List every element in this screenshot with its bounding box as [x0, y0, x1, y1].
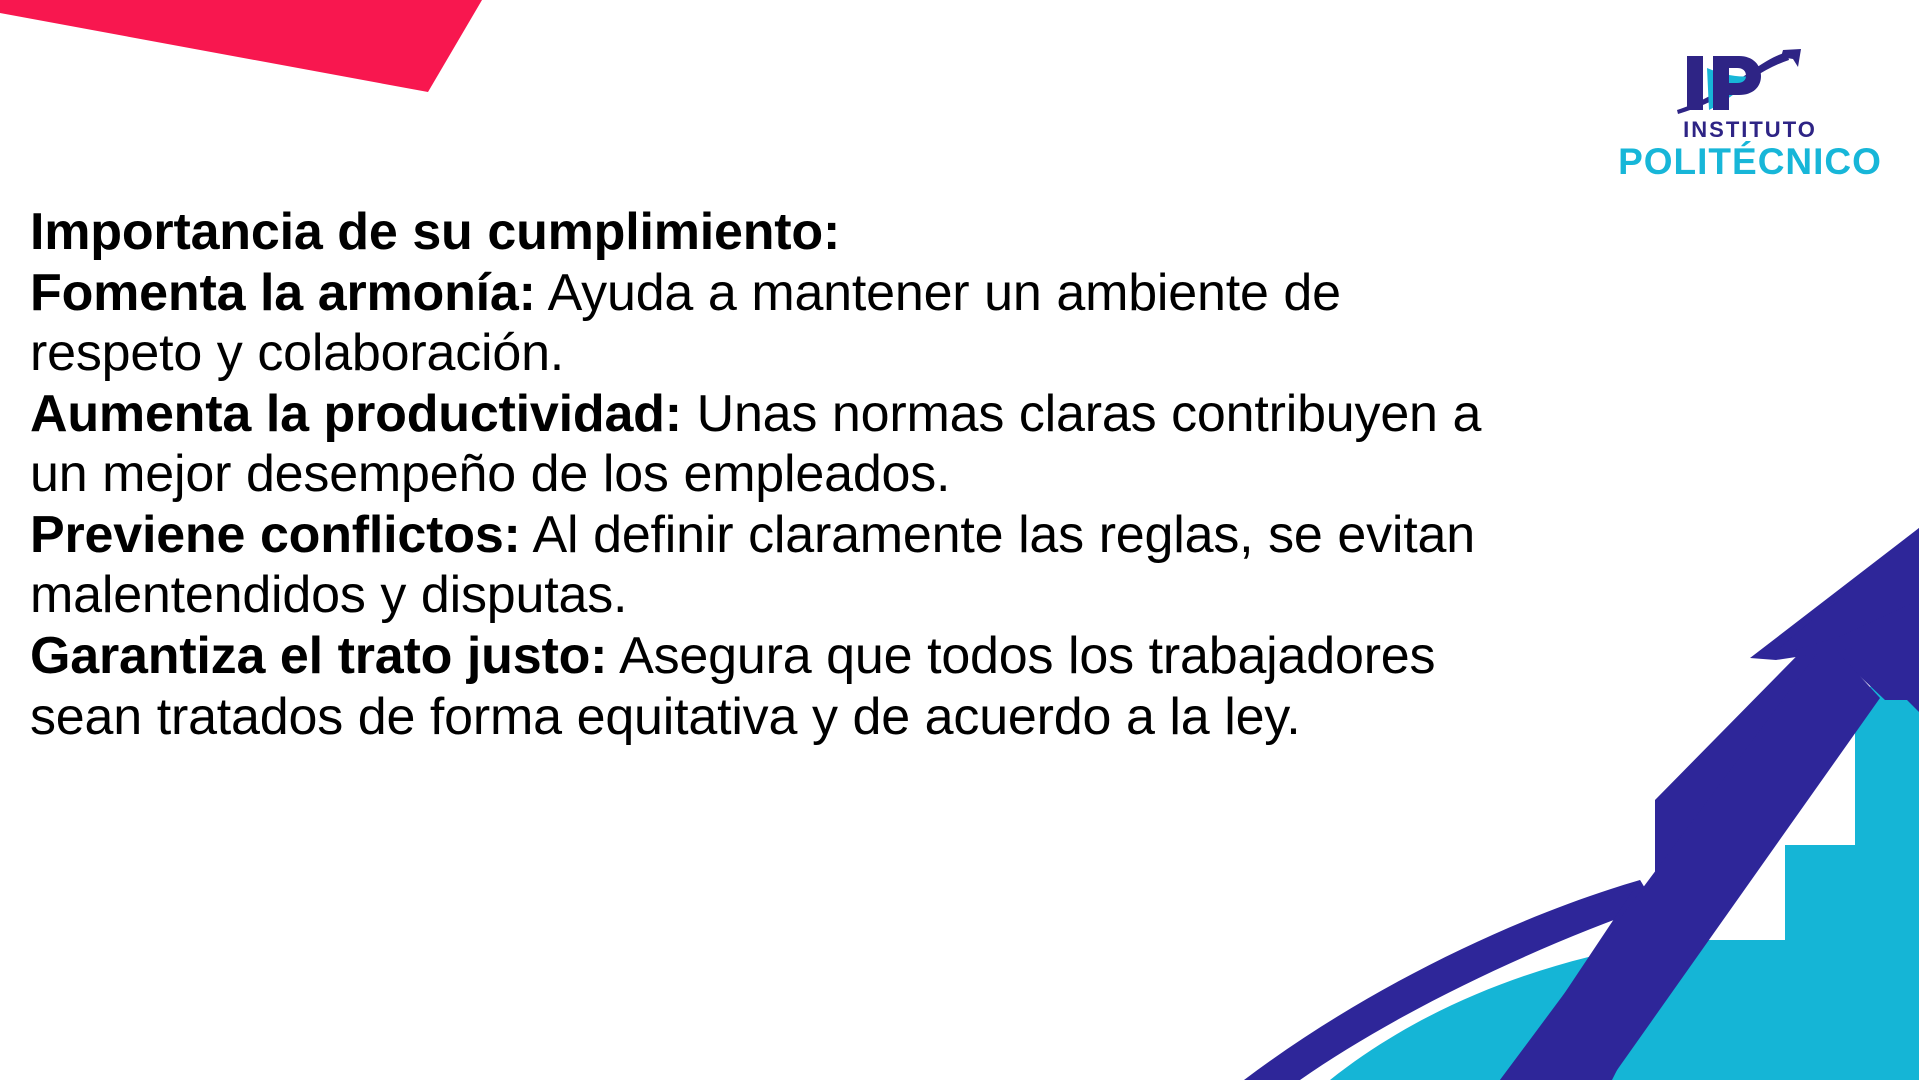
slide-canvas: INSTITUTO POLITÉCNICO Importancia de su …	[0, 0, 1919, 1080]
list-item-label: Previene conflictos:	[30, 506, 521, 564]
list-item: Garantiza el trato justo: Asegura que to…	[30, 626, 1510, 747]
purple-arrow-head	[1750, 528, 1919, 712]
purple-arrow-head-barb	[1768, 528, 1919, 658]
bottom-purple-swoosh	[1244, 880, 1655, 1080]
logo-line-politecnico: POLITÉCNICO	[1590, 143, 1910, 182]
bottom-right-purple-growth-arrow	[1500, 534, 1919, 1080]
purple-arrow-shaft	[1500, 640, 1880, 1080]
list-item: Fomenta la armonía: Ayuda a mantener un …	[30, 263, 1510, 384]
top-left-pink-banner	[0, 0, 482, 92]
list-item-label: Aumenta la productividad:	[30, 385, 682, 443]
list-item-label: Garantiza el trato justo:	[30, 627, 607, 685]
slide-body-text: Importancia de su cumplimiento: Fomenta …	[30, 202, 1510, 747]
list-item-label: Fomenta la armonía:	[30, 264, 536, 322]
list-item: Previene conflictos: Al definir claramen…	[30, 505, 1510, 626]
list-item: Aumenta la productividad: Unas normas cl…	[30, 384, 1510, 505]
ip-monogram-icon	[1665, 48, 1835, 118]
page-title: Importancia de su cumplimiento:	[30, 202, 1510, 263]
institution-logo: INSTITUTO POLITÉCNICO	[1590, 48, 1910, 168]
logo-line-instituto: INSTITUTO	[1590, 119, 1910, 141]
